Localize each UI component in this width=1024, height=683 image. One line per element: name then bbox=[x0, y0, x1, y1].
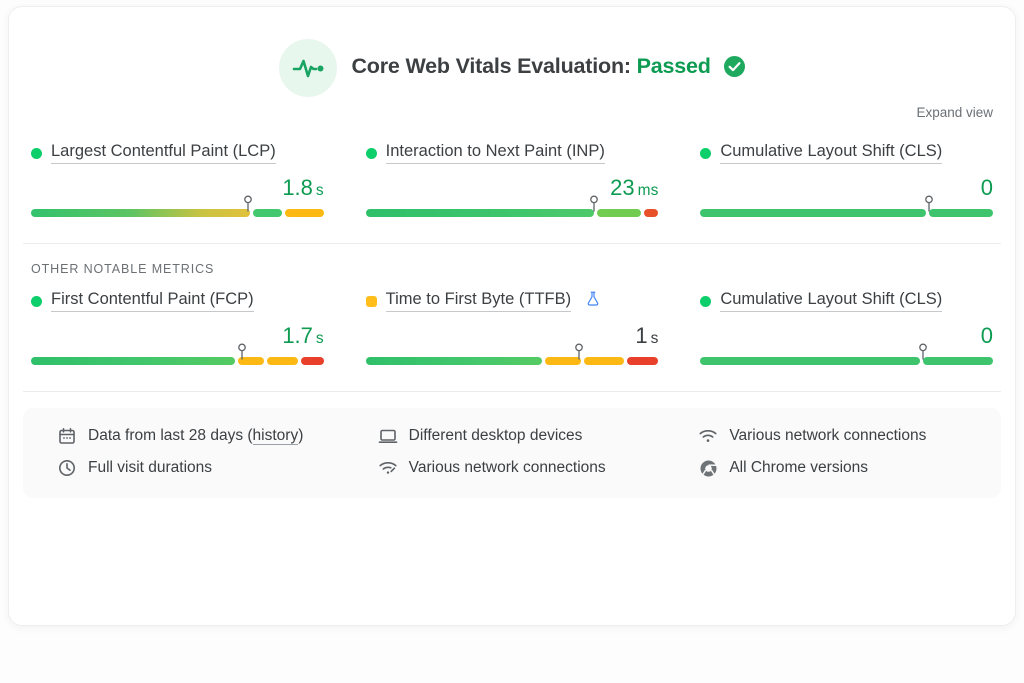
status-indicator bbox=[700, 296, 711, 307]
metric-value: 0 bbox=[700, 175, 993, 201]
bar-segment bbox=[700, 209, 926, 217]
bar-segment bbox=[597, 209, 641, 217]
status-indicator bbox=[366, 148, 377, 159]
metric-value: 23 ms bbox=[366, 175, 659, 201]
metric-card: First Contentful Paint (FCP) 1.7 s bbox=[23, 290, 332, 365]
footer-item-label: Different desktop devices bbox=[409, 427, 583, 445]
bar-segment bbox=[584, 357, 624, 365]
footer-item-label: Various network connections bbox=[409, 459, 606, 477]
bar-segment bbox=[267, 357, 298, 365]
metric-label[interactable]: Cumulative Layout Shift (CLS) bbox=[720, 142, 942, 164]
page-title: Core Web Vitals Evaluation: Passed bbox=[351, 54, 744, 83]
metric-header: Interaction to Next Paint (INP) bbox=[366, 142, 659, 164]
bar-segment bbox=[31, 357, 235, 365]
bar-segment bbox=[31, 209, 250, 217]
metric-header: First Contentful Paint (FCP) bbox=[31, 290, 324, 312]
other-metrics-grid: First Contentful Paint (FCP) 1.7 s Time … bbox=[9, 276, 1015, 365]
core-metrics-grid: Largest Contentful Paint (LCP) 1.8 s Int… bbox=[9, 120, 1015, 217]
metric-value-unit: s bbox=[316, 182, 324, 200]
bar-marker-pin bbox=[588, 195, 599, 217]
clock-icon bbox=[57, 458, 77, 478]
metric-value-number: 23 bbox=[610, 175, 634, 201]
other-metrics-label: OTHER NOTABLE METRICS bbox=[9, 244, 1015, 276]
footer-item-label: Various network connections bbox=[729, 427, 926, 445]
metric-card: Interaction to Next Paint (INP) 23 ms bbox=[358, 142, 667, 217]
metric-value: 1 s bbox=[366, 323, 659, 349]
metric-value-number: 1.7 bbox=[282, 323, 313, 349]
bar-track bbox=[700, 357, 993, 365]
bar-marker-pin bbox=[923, 195, 934, 217]
card-header: Core Web Vitals Evaluation: Passed bbox=[9, 7, 1015, 97]
bar-segment bbox=[285, 209, 323, 217]
bar-segment bbox=[644, 209, 659, 217]
bar-marker-pin bbox=[236, 343, 247, 365]
metric-header: Cumulative Layout Shift (CLS) bbox=[700, 290, 993, 312]
footer-item: Various network connections bbox=[698, 426, 993, 446]
metric-value-unit: s bbox=[651, 330, 659, 348]
expand-view-link[interactable]: Expand view bbox=[916, 105, 993, 120]
footer-divider bbox=[23, 391, 1001, 392]
laptop-icon bbox=[378, 426, 398, 446]
metric-bar bbox=[700, 355, 993, 365]
metric-card: Time to First Byte (TTFB) 1 s bbox=[358, 290, 667, 365]
bar-segment bbox=[929, 209, 993, 217]
metric-label[interactable]: Largest Contentful Paint (LCP) bbox=[51, 142, 276, 164]
bar-segment bbox=[923, 357, 993, 365]
status-indicator bbox=[31, 296, 42, 307]
bar-track bbox=[31, 357, 324, 365]
bar-segment bbox=[700, 357, 920, 365]
metric-value-number: 1.8 bbox=[282, 175, 313, 201]
footer-item: Data from last 28 days (history) bbox=[57, 426, 352, 446]
metric-value-number: 0 bbox=[981, 175, 993, 201]
metric-label[interactable]: Interaction to Next Paint (INP) bbox=[386, 142, 605, 164]
status-indicator bbox=[366, 296, 377, 307]
bar-track bbox=[31, 209, 324, 217]
history-link[interactable]: history bbox=[253, 427, 299, 445]
footer-item: All Chrome versions bbox=[698, 458, 993, 478]
flask-icon bbox=[586, 291, 600, 311]
metric-header: Cumulative Layout Shift (CLS) bbox=[700, 142, 993, 164]
metric-bar bbox=[366, 207, 659, 217]
metric-card: Cumulative Layout Shift (CLS) 0 bbox=[692, 142, 1001, 217]
bar-marker-pin bbox=[242, 195, 253, 217]
page-root: Core Web Vitals Evaluation: Passed Expan… bbox=[0, 0, 1024, 683]
metric-label[interactable]: First Contentful Paint (FCP) bbox=[51, 290, 254, 312]
status-indicator bbox=[700, 148, 711, 159]
footer-item-label: Full visit durations bbox=[88, 459, 212, 477]
expand-view-row: Expand view bbox=[9, 97, 1015, 120]
footer-column: Different desktop devices Various networ… bbox=[352, 426, 673, 478]
metric-value-unit: ms bbox=[638, 182, 659, 200]
metric-value: 1.8 s bbox=[31, 175, 324, 201]
bar-segment bbox=[253, 209, 283, 217]
bar-segment bbox=[366, 357, 542, 365]
check-circle-icon bbox=[724, 56, 745, 83]
footer-item-label: All Chrome versions bbox=[729, 459, 868, 477]
metric-header: Largest Contentful Paint (LCP) bbox=[31, 142, 324, 164]
wifi-slash-icon bbox=[378, 458, 398, 478]
bar-segment bbox=[301, 357, 324, 365]
cwv-card: Core Web Vitals Evaluation: Passed Expan… bbox=[8, 6, 1016, 626]
metric-value: 1.7 s bbox=[31, 323, 324, 349]
metric-label[interactable]: Cumulative Layout Shift (CLS) bbox=[720, 290, 942, 312]
metric-value: 0 bbox=[700, 323, 993, 349]
metric-bar bbox=[31, 355, 324, 365]
verdict-text: Passed bbox=[637, 54, 711, 78]
metric-value-number: 1 bbox=[635, 323, 647, 349]
calendar-icon bbox=[57, 426, 77, 446]
footer-column: Various network connections All Chrome v… bbox=[672, 426, 993, 478]
bar-track bbox=[366, 357, 659, 365]
metric-value-unit: s bbox=[316, 330, 324, 348]
bar-segment bbox=[627, 357, 658, 365]
footer-info: Data from last 28 days (history) Full vi… bbox=[23, 408, 1001, 498]
metric-bar bbox=[700, 207, 993, 217]
footer-item: Different desktop devices bbox=[378, 426, 673, 446]
wifi-icon bbox=[698, 426, 718, 446]
footer-item: Full visit durations bbox=[57, 458, 352, 478]
metric-card: Cumulative Layout Shift (CLS) 0 bbox=[692, 290, 1001, 365]
metric-bar bbox=[366, 355, 659, 365]
metric-bar bbox=[31, 207, 324, 217]
header-title-prefix: Core Web Vitals Evaluation: bbox=[351, 54, 630, 78]
footer-column: Data from last 28 days (history) Full vi… bbox=[31, 426, 352, 478]
footer-item-label: Data from last 28 days (history) bbox=[88, 427, 303, 445]
bar-marker-pin bbox=[574, 343, 585, 365]
bar-marker-pin bbox=[917, 343, 928, 365]
bar-track bbox=[700, 209, 993, 217]
metric-card: Largest Contentful Paint (LCP) 1.8 s bbox=[23, 142, 332, 217]
chrome-icon bbox=[698, 458, 718, 478]
pulse-icon bbox=[279, 39, 337, 97]
footer-item: Various network connections bbox=[378, 458, 673, 478]
status-indicator bbox=[31, 148, 42, 159]
metric-label[interactable]: Time to First Byte (TTFB) bbox=[386, 290, 571, 312]
metric-value-number: 0 bbox=[981, 323, 993, 349]
metric-header: Time to First Byte (TTFB) bbox=[366, 290, 659, 312]
bar-track bbox=[366, 209, 659, 217]
bar-segment bbox=[366, 209, 594, 217]
